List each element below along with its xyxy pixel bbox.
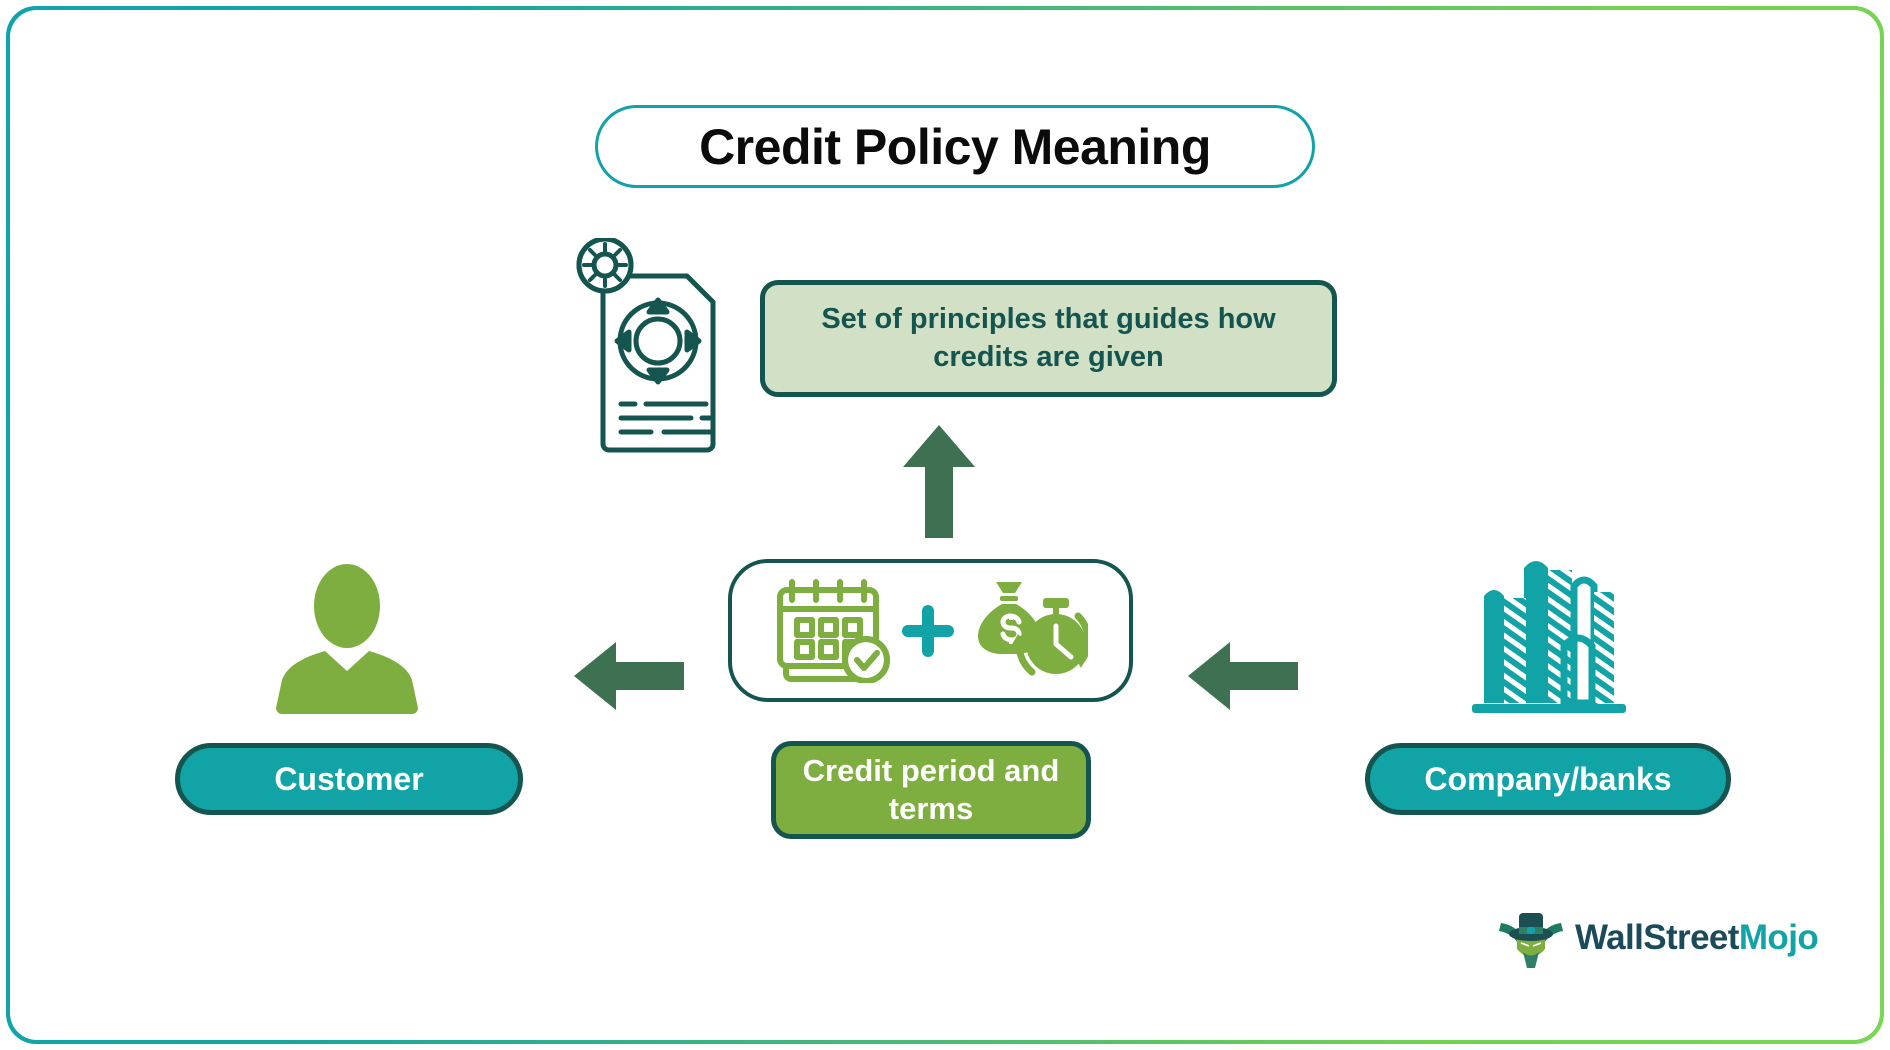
logo-wordmark-part2: Mojo	[1739, 918, 1818, 957]
company-banks-label: Company/banks	[1424, 761, 1671, 798]
page-title: Credit Policy Meaning	[699, 118, 1211, 176]
credit-period-terms-text: Credit period and terms	[776, 752, 1086, 828]
calendar-check-icon	[774, 579, 892, 683]
arrow-up-to-definition	[903, 425, 975, 538]
money-bag-clock-icon	[964, 576, 1088, 686]
logo-wordmark-part1: WallStreet	[1575, 918, 1739, 957]
definition-text: Set of principles that guides how credit…	[783, 301, 1314, 375]
arrow-left-to-customer	[574, 642, 684, 710]
credit-terms-card	[728, 559, 1133, 702]
logo-wordmark: WallStreetMojo	[1575, 918, 1818, 958]
policy-document-gear-icon	[576, 238, 726, 453]
company-banks-pill: Company/banks	[1365, 743, 1731, 815]
customer-pill: Customer	[175, 743, 523, 815]
customer-person-icon	[268, 558, 426, 716]
customer-label: Customer	[274, 761, 423, 798]
infographic-canvas: Credit Policy Meaning	[10, 10, 1880, 1040]
arrow-left-from-company	[1188, 642, 1298, 710]
definition-box: Set of principles that guides how credit…	[760, 280, 1337, 397]
credit-period-terms-label: Credit period and terms	[771, 741, 1091, 839]
company-buildings-icon	[1466, 552, 1632, 720]
infographic-frame: Credit Policy Meaning	[6, 6, 1884, 1044]
wallstreetmojo-bull-icon	[1499, 905, 1563, 971]
page-title-pill: Credit Policy Meaning	[595, 105, 1315, 188]
brand-logo: WallStreetMojo	[1499, 903, 1811, 973]
plus-icon	[900, 603, 956, 659]
